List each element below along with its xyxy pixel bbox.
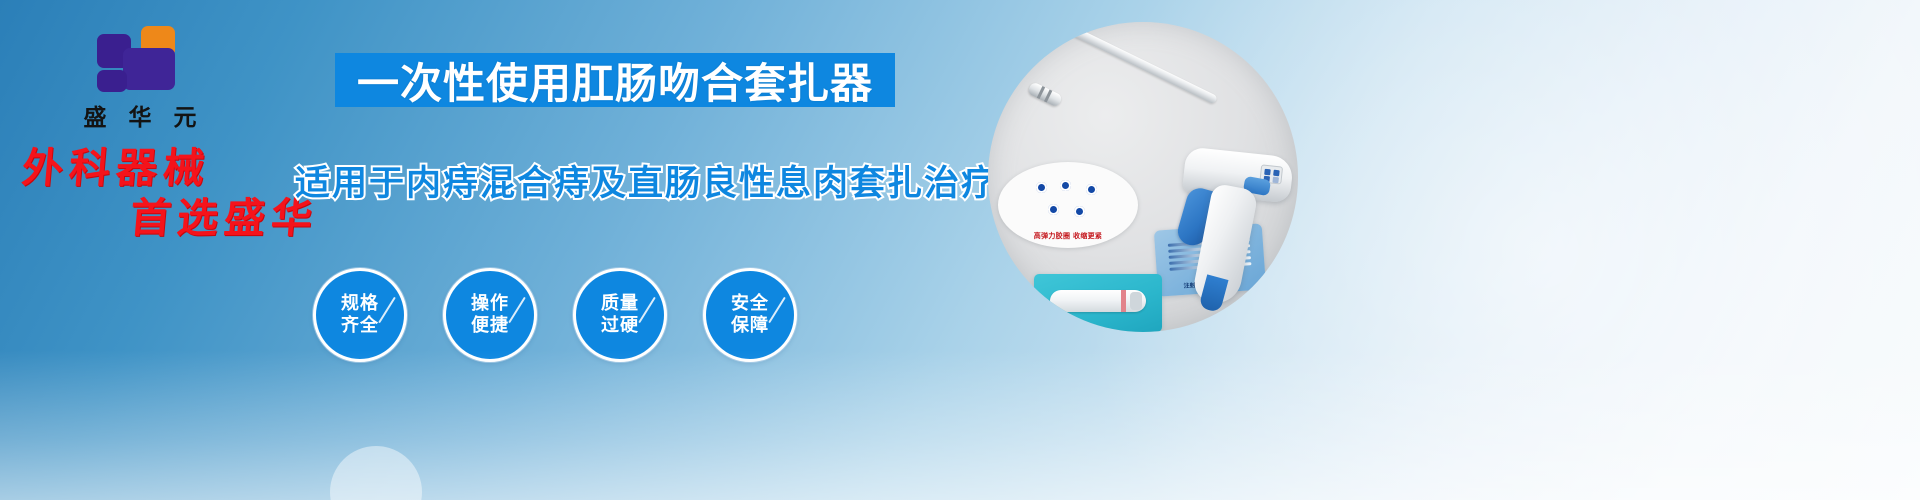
subtitle: 适用于内痔混合痔及直肠良性息肉套扎治疗 (295, 155, 905, 205)
feature-badge-4-line2: 保障 (731, 315, 769, 338)
feature-badge-3-line2: 过硬 (601, 315, 639, 338)
shenghuayuan-blocks-logo-icon (97, 26, 183, 92)
feature-badge-1-line2: 齐全 (341, 315, 379, 338)
ligator-device-icon (1006, 82, 1298, 312)
logo-block-3 (123, 48, 175, 90)
product-photo-disc: 高弹力胶圈 收缩更紧 注射刀/钳头不易脱落 (988, 22, 1298, 332)
device-shaft (1052, 22, 1218, 105)
device-tip (1027, 81, 1063, 108)
product-photo: 高弹力胶圈 收缩更紧 注射刀/钳头不易脱落 (988, 22, 1298, 332)
decorative-bubble (330, 446, 422, 500)
feature-badge-2-line2: 便捷 (471, 315, 509, 338)
logo-block-4 (97, 70, 127, 92)
bottom-fade-overlay (0, 350, 1920, 500)
feature-badge-3[interactable]: 质量 过硬 (573, 268, 667, 362)
feature-badge-list: 规格 齐全 操作 便捷 质量 过硬 安全 保障 (313, 268, 797, 362)
feature-badge-3-line1: 质量 (601, 293, 639, 316)
brand-name: 盛 华 元 (60, 98, 220, 132)
feature-badge-1-line1: 规格 (341, 293, 379, 316)
slash-decor-icon (638, 297, 656, 324)
page-title: 一次性使用肛肠吻合套扎器 (335, 50, 895, 110)
slash-decor-icon (768, 297, 786, 324)
feature-badge-1[interactable]: 规格 齐全 (313, 268, 407, 362)
feature-badge-4-line1: 安全 (731, 293, 769, 316)
promo-banner: 盛 华 元 外科器械 首选盛华 一次性使用肛肠吻合套扎器 适用于内痔混合痔及直肠… (0, 0, 1920, 500)
feature-badge-2[interactable]: 操作 便捷 (443, 268, 537, 362)
feature-badge-2-line1: 操作 (471, 293, 509, 316)
slash-decor-icon (508, 297, 526, 324)
feature-badge-4[interactable]: 安全 保障 (703, 268, 797, 362)
slash-decor-icon (378, 297, 396, 324)
brand-logo: 盛 华 元 (60, 26, 220, 132)
